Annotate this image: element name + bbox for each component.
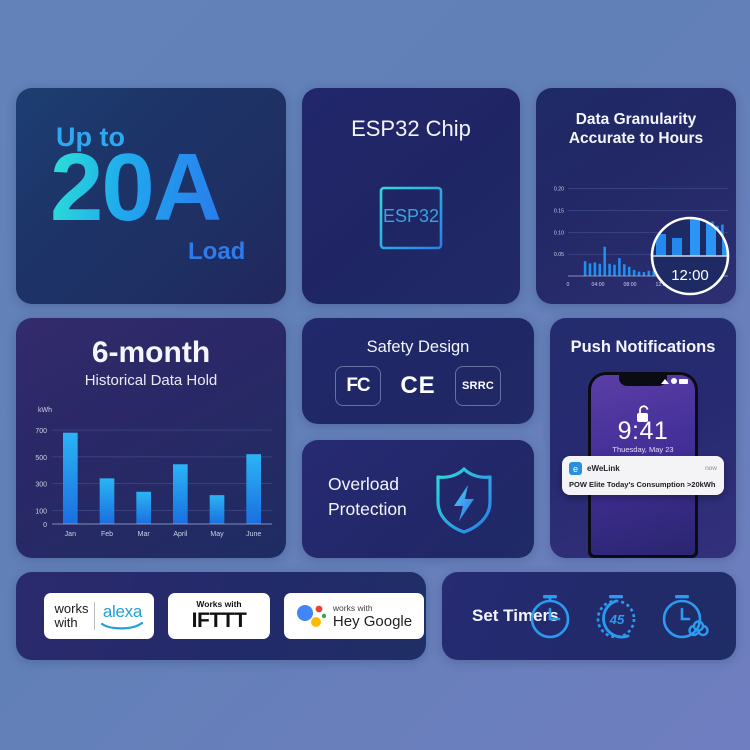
partner-logos: works with alexa Works with IFTTT (44, 593, 424, 639)
six-month-subtitle: Historical Data Hold (16, 372, 286, 389)
phone-time: 9:41 (591, 417, 695, 446)
battery-icon (679, 379, 688, 384)
signal-icon (661, 379, 669, 384)
overload-text: Overload Protection (328, 472, 407, 523)
certification-badges: FC CE SRRC (302, 366, 534, 406)
chart-x-axis-labels: JanFebMarAprilMayJune (65, 531, 262, 538)
alexa-with-label: with (55, 616, 89, 630)
monthly-consumption-chart: kWh 7005003001000 JanFebMarAprilMayJune (24, 400, 278, 548)
granularity-title-line1: Data Granularity (536, 110, 736, 129)
chart-y-axis-labels: 0.200.150.100.05 (554, 187, 564, 258)
svg-text:300: 300 (35, 482, 47, 489)
svg-text:June: June (246, 531, 261, 538)
timer-countdown-icon: 45 (590, 590, 642, 642)
timer-clock-icon (524, 590, 576, 642)
card-esp32-chip: ESP32 Chip ESP (302, 88, 520, 304)
notification-body: POW Elite Today's Consumption >20kWh (569, 480, 717, 489)
alexa-works-label: works (55, 602, 89, 616)
phone-date: Thuesday, May 23 (591, 445, 695, 454)
fcc-badge: FC (335, 366, 381, 406)
timer-loop-icon (656, 590, 714, 642)
svg-text:0: 0 (567, 282, 570, 288)
alexa-works-with-text: works with (55, 602, 89, 629)
chart-y-axis-unit: kWh (38, 407, 52, 414)
svg-text:100: 100 (35, 509, 47, 516)
svg-text:0.05: 0.05 (554, 252, 564, 258)
srrc-badge: SRRC (455, 366, 501, 406)
shield-bolt-icon (428, 464, 500, 536)
svg-text:0.10: 0.10 (554, 230, 564, 236)
svg-text:500: 500 (35, 455, 47, 462)
card-overload-protection: Overload Protection (302, 440, 534, 558)
works-with-alexa-badge: works with alexa (44, 593, 154, 639)
safety-title: Safety Design (302, 338, 534, 357)
phone-status-bar (661, 378, 688, 384)
amperage-value: 20A (50, 140, 220, 236)
google-works-with-label: works with (333, 603, 412, 613)
overload-line1: Overload (328, 472, 407, 497)
wifi-icon (671, 378, 677, 384)
svg-text:0: 0 (43, 522, 47, 529)
push-title: Push Notifications (550, 338, 736, 357)
svg-text:0.15: 0.15 (554, 209, 564, 215)
notification-app-name: eWeLink (587, 464, 700, 473)
svg-text:0.20: 0.20 (554, 187, 564, 193)
feature-card-grid: Up to 20A Load ESP32 Chip (16, 88, 736, 660)
svg-text:08:00: 08:00 (624, 282, 637, 288)
svg-text:Feb: Feb (101, 531, 113, 538)
google-assistant-icon (296, 603, 326, 629)
google-text: works with Hey Google (333, 603, 412, 630)
load-label: Load (188, 238, 245, 266)
timer-countdown-value: 45 (609, 612, 625, 627)
alexa-logo: alexa (101, 602, 143, 630)
svg-text:Mar: Mar (138, 531, 151, 538)
svg-text:Jan: Jan (65, 531, 76, 538)
ewelink-app-icon: e (569, 462, 582, 475)
notification-header: e eWeLink now (569, 462, 717, 475)
card-max-load: Up to 20A Load (16, 88, 286, 304)
card-push-notifications: Push Notifications 9:41 Thuesday, May 23 (550, 318, 736, 558)
magnifier-overlay: 12:00 (648, 214, 732, 298)
alexa-smile-icon (101, 622, 143, 630)
notification-timestamp: now (705, 465, 717, 472)
ifttt-brand-label: IFTTT (192, 609, 247, 633)
timer-icon-group: 45 (524, 590, 714, 642)
card-data-granularity: Data Granularity Accurate to Hours 0.200… (536, 88, 736, 304)
notification-banner[interactable]: e eWeLink now POW Elite Today's Consumpt… (562, 456, 724, 495)
granularity-title-line2: Accurate to Hours (536, 129, 736, 148)
alexa-brand-label: alexa (103, 602, 142, 622)
granularity-title: Data Granularity Accurate to Hours (536, 110, 736, 149)
svg-text:04:00: 04:00 (592, 282, 605, 288)
card-set-timers: Set Timers 45 (442, 572, 736, 660)
esp32-card-title: ESP32 Chip (302, 116, 520, 142)
phone-notch (619, 375, 667, 386)
overload-line2: Protection (328, 497, 407, 522)
chart-bars (63, 433, 261, 524)
svg-text:May: May (210, 531, 224, 538)
card-safety-design: Safety Design FC CE SRRC (302, 318, 534, 424)
six-month-title: 6-month (16, 336, 286, 370)
chart-y-axis-labels: 7005003001000 (35, 428, 47, 529)
works-with-google-badge: works with Hey Google (284, 593, 424, 639)
alexa-divider (94, 602, 95, 630)
card-six-month-history: 6-month Historical Data Hold kWh 7005003… (16, 318, 286, 558)
svg-text:700: 700 (35, 428, 47, 435)
ifttt-works-with-label: Works with (196, 599, 241, 609)
works-with-ifttt-badge: Works with IFTTT (168, 593, 270, 639)
google-brand-label: Hey Google (333, 613, 412, 630)
svg-text:April: April (173, 531, 187, 538)
magnifier-time-label: 12:00 (671, 267, 709, 284)
card-works-with: works with alexa Works with IFTTT (16, 572, 426, 660)
chip-model-label: ESP32 (383, 206, 439, 227)
ce-badge: CE (395, 366, 441, 406)
chart-gridlines (52, 430, 272, 511)
